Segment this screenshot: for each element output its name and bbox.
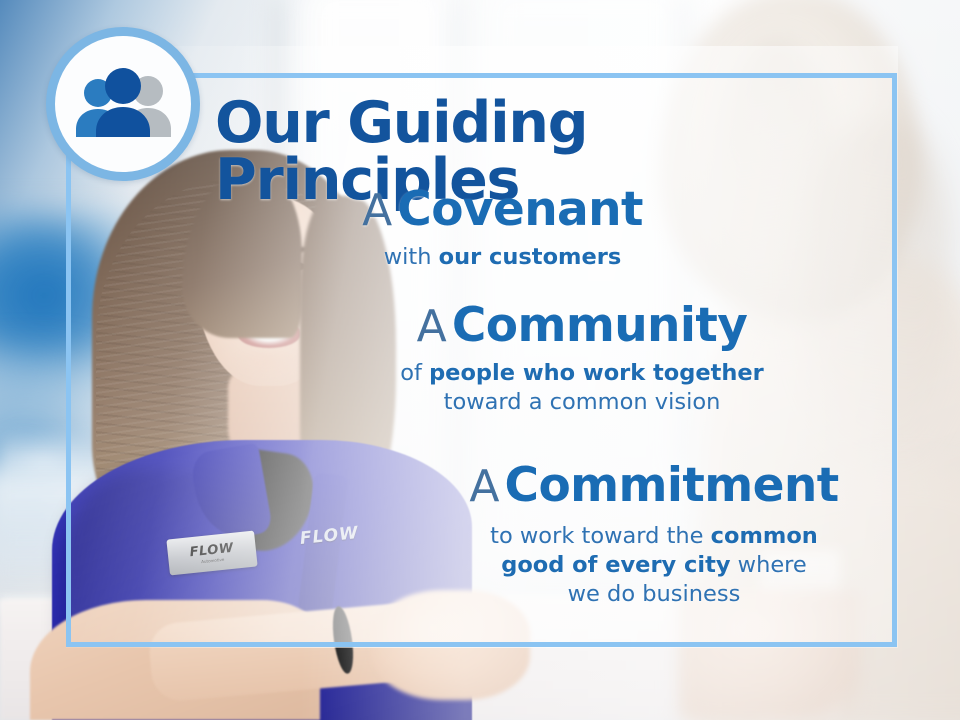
principle-keyword: Community [452, 298, 747, 353]
principle-subtext-community: of people who work together toward a com… [382, 359, 782, 417]
principle-heading-covenant: A Covenant [330, 186, 675, 234]
name-badge-sub-text: Automotive [201, 557, 224, 563]
principle-keyword: Covenant [397, 182, 643, 237]
principle-line: good of every city where [440, 551, 868, 580]
name-badge-brand-text: FLOW [189, 541, 234, 559]
principle-line: to work toward the common [440, 522, 868, 551]
people-group-icon-badge [46, 27, 200, 181]
principle-article: A [469, 461, 499, 512]
principle-block-covenant: A Covenant with our customers [330, 186, 675, 272]
principle-article: A [362, 185, 392, 236]
principle-article: A [417, 301, 447, 352]
photo-employee-chin [236, 352, 300, 382]
principle-subtext-commitment: to work toward the common good of every … [440, 522, 868, 608]
photo-customer-hand [680, 590, 860, 720]
poster-canvas: FLOW Automotive FLOW Ou [0, 0, 960, 720]
principle-heading-commitment: A Commitment [440, 462, 868, 510]
principle-keyword: Commitment [505, 458, 839, 513]
principle-block-community: A Community of people who work together … [382, 302, 782, 417]
principle-line: with our customers [384, 244, 621, 270]
people-group-icon [71, 67, 175, 141]
principle-block-commitment: A Commitment to work toward the common g… [440, 462, 868, 608]
principle-line: we do business [440, 580, 868, 609]
principle-heading-community: A Community [382, 302, 782, 350]
principle-subtext-covenant: with our customers [330, 243, 675, 272]
principle-line: toward a common vision [382, 388, 782, 417]
principle-line: of people who work together [382, 359, 782, 388]
